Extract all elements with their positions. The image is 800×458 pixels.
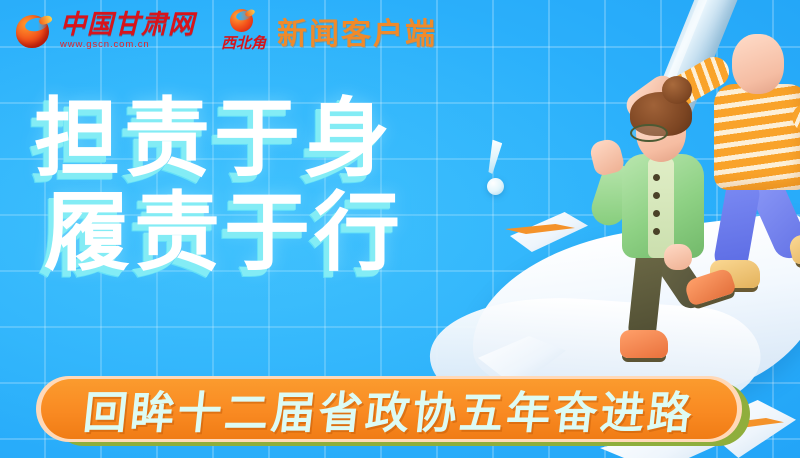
- headline-line-2: 履责于行: [44, 190, 404, 278]
- promo-banner: 中国甘肃网 www.gscn.com.cn 西北角 新闻客户端: [0, 0, 800, 458]
- headline-line-1: 担责于身: [34, 96, 394, 184]
- header-logo-bar: 中国甘肃网 www.gscn.com.cn 西北角 新闻客户端: [14, 8, 437, 54]
- ribbon-text: 回眸十二届省政协五年奋进路: [80, 377, 698, 441]
- app-name: 新闻客户端: [277, 9, 437, 53]
- site-branding[interactable]: 中国甘肃网 www.gscn.com.cn: [60, 12, 195, 50]
- subtitle-ribbon[interactable]: 回眸十二届省政协五年奋进路: [36, 376, 750, 444]
- exclamation-mark-icon: [482, 140, 512, 202]
- gansu-swirl-logo-icon: [14, 11, 52, 51]
- xibeijiao-logo[interactable]: 西北角: [221, 9, 263, 53]
- headline: 担责于身 履责于行: [34, 96, 394, 277]
- site-name: 中国甘肃网: [60, 12, 195, 38]
- second-logo-name: 西北角: [221, 32, 266, 53]
- ribbon-body: 回眸十二届省政协五年奋进路: [41, 379, 737, 439]
- site-url: www.gscn.com.cn: [60, 40, 195, 50]
